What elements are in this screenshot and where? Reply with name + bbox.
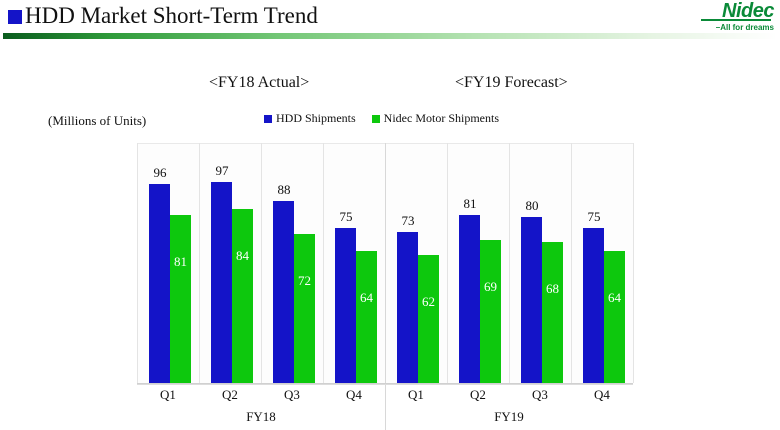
bar-chart: 96819784887275647362816980687564 — [137, 143, 633, 383]
bar-pair: 8068 — [509, 143, 571, 383]
bar-value-label-hdd: 80 — [509, 198, 555, 214]
bar-nidec-motor-shipments[interactable] — [542, 242, 563, 383]
title-gradient-rule — [3, 33, 777, 39]
bar-nidec-motor-shipments[interactable] — [232, 209, 253, 383]
legend-label-hdd: HDD Shipments — [276, 111, 356, 126]
section-header-fy19: <FY19 Forecast> — [455, 74, 568, 92]
bar-pair: 7362 — [385, 143, 447, 383]
bar-hdd-shipments[interactable] — [459, 215, 480, 383]
bar-hdd-shipments[interactable] — [335, 228, 356, 383]
axis-label-quarter: Q3 — [261, 387, 323, 403]
bar-value-label-hdd: 81 — [447, 196, 493, 212]
bar-value-label-hdd: 97 — [199, 163, 245, 179]
logo-swoosh-icon — [701, 19, 771, 21]
bar-value-label-nidec: 62 — [418, 294, 439, 310]
gridline — [633, 143, 634, 383]
bar-value-label-hdd: 75 — [323, 209, 369, 225]
bar-nidec-motor-shipments[interactable] — [480, 240, 501, 383]
legend-label-nidec: Nidec Motor Shipments — [384, 111, 499, 126]
axis-label-quarter: Q2 — [199, 387, 261, 403]
bar-hdd-shipments[interactable] — [521, 217, 542, 383]
bar-group: 7362 — [385, 143, 447, 383]
bar-nidec-motor-shipments[interactable] — [418, 255, 439, 383]
bar-pair: 9784 — [199, 143, 261, 383]
bar-value-label-nidec: 72 — [294, 273, 315, 289]
bar-group: 8068 — [509, 143, 571, 383]
axis-label-quarter: Q1 — [137, 387, 199, 403]
bar-hdd-shipments[interactable] — [397, 232, 418, 383]
axis-label-quarter: Q2 — [447, 387, 509, 403]
axis-label-fy19: FY19 — [385, 409, 633, 425]
bar-nidec-motor-shipments[interactable] — [294, 234, 315, 383]
bar-group: 7564 — [571, 143, 633, 383]
bar-group: 8872 — [261, 143, 323, 383]
bar-hdd-shipments[interactable] — [211, 182, 232, 383]
bar-hdd-shipments[interactable] — [273, 201, 294, 383]
bar-value-label-nidec: 81 — [170, 254, 191, 270]
units-label: (Millions of Units) — [48, 113, 146, 129]
nidec-logo: Nidec –All for dreams — [688, 2, 774, 32]
bar-value-label-hdd: 73 — [385, 213, 431, 229]
bar-nidec-motor-shipments[interactable] — [356, 251, 377, 383]
bar-nidec-motor-shipments[interactable] — [170, 215, 191, 383]
legend-swatch-icon-hdd — [264, 115, 272, 123]
bar-value-label-hdd: 88 — [261, 182, 307, 198]
bar-value-label-hdd: 96 — [137, 165, 183, 181]
legend-item-nidec: Nidec Motor Shipments — [372, 111, 499, 126]
bar-value-label-nidec: 84 — [232, 248, 253, 264]
bar-hdd-shipments[interactable] — [583, 228, 604, 383]
bar-nidec-motor-shipments[interactable] — [604, 251, 625, 383]
bar-value-label-nidec: 68 — [542, 281, 563, 297]
axis-label-quarter: Q4 — [323, 387, 385, 403]
page-title: HDD Market Short-Term Trend — [25, 1, 318, 31]
bar-value-label-nidec: 64 — [604, 290, 625, 306]
bar-pair: 7564 — [323, 143, 385, 383]
title-bullet-icon — [8, 10, 22, 24]
bar-value-label-nidec: 69 — [480, 279, 501, 295]
bar-value-label-hdd: 75 — [571, 209, 617, 225]
axis-label-quarter: Q4 — [571, 387, 633, 403]
bar-group: 9681 — [137, 143, 199, 383]
legend-swatch-icon-nidec — [372, 115, 380, 123]
axis-label-fy18: FY18 — [137, 409, 385, 425]
bar-value-label-nidec: 64 — [356, 290, 377, 306]
bar-group: 7564 — [323, 143, 385, 383]
category-axis: Q1Q2Q3Q4Q1Q2Q3Q4 FY18 FY19 — [137, 384, 633, 430]
axis-label-quarter: Q3 — [509, 387, 571, 403]
bar-pair: 8872 — [261, 143, 323, 383]
chart-legend: HDD Shipments Nidec Motor Shipments — [264, 111, 499, 126]
logo-tagline: –All for dreams — [688, 22, 774, 34]
bar-group: 8169 — [447, 143, 509, 383]
bar-pair: 8169 — [447, 143, 509, 383]
section-header-fy18: <FY18 Actual> — [209, 74, 309, 92]
axis-label-quarter: Q1 — [385, 387, 447, 403]
legend-item-hdd: HDD Shipments — [264, 111, 356, 126]
bar-pair: 9681 — [137, 143, 199, 383]
bar-pair: 7564 — [571, 143, 633, 383]
bar-hdd-shipments[interactable] — [149, 184, 170, 383]
title-bar: HDD Market Short-Term Trend — [0, 0, 780, 32]
bar-group: 9784 — [199, 143, 261, 383]
